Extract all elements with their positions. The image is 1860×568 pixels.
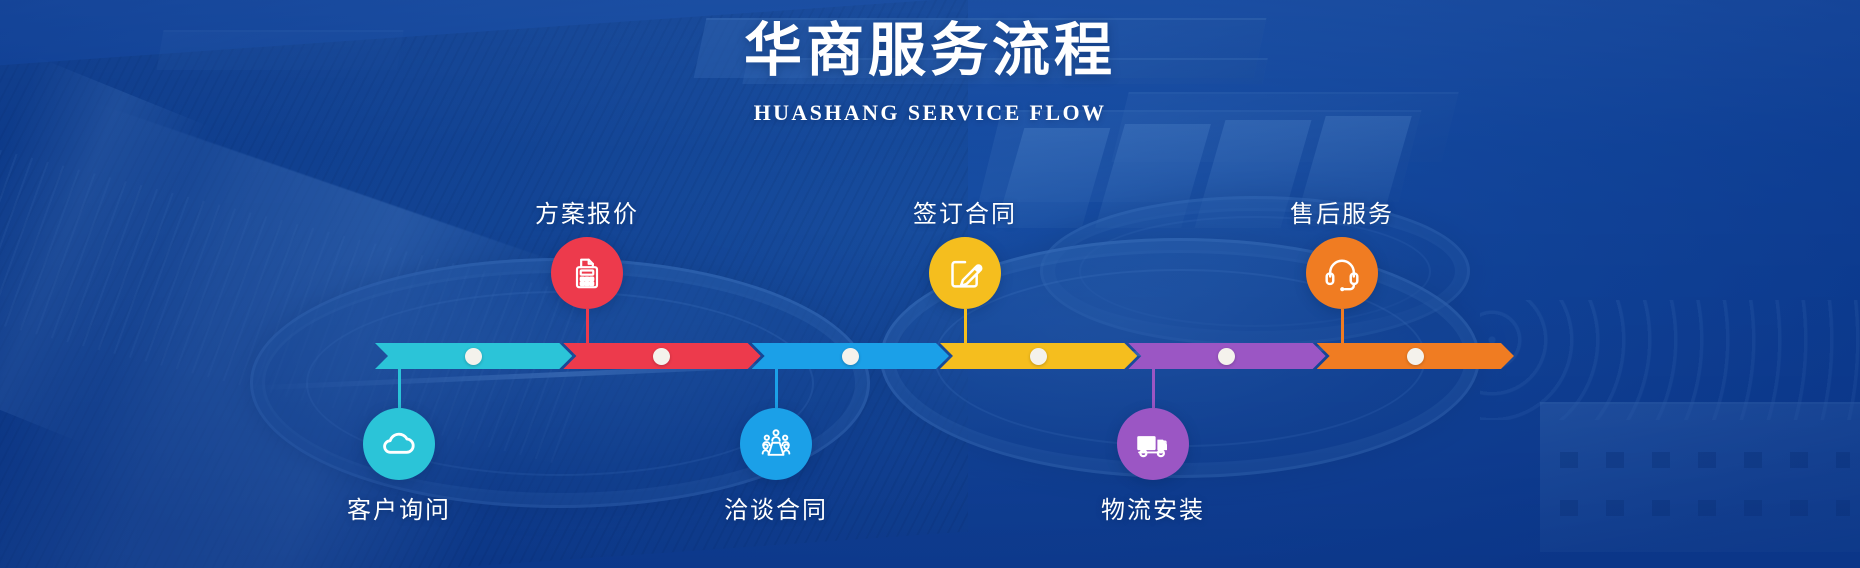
flow-step-stem	[964, 309, 967, 361]
flow-step-icon-bubble[interactable]	[1306, 237, 1378, 309]
flow-step-label: 售后服务	[1232, 194, 1452, 229]
headset-support-icon	[1321, 252, 1363, 294]
flow-segment-dot	[1030, 348, 1047, 365]
flow-step-3[interactable]: 洽谈合同	[666, 408, 886, 525]
flow-step-icon-bubble[interactable]	[1117, 408, 1189, 480]
flow-arrow-segment-plan-quotation[interactable]	[563, 343, 760, 369]
flow-step-icon-bubble[interactable]	[929, 237, 1001, 309]
flow-segment-dot	[1407, 348, 1424, 365]
page-subtitle: HUASHANG SERVICE FLOW	[0, 100, 1860, 126]
flow-step-icon-bubble[interactable]	[551, 237, 623, 309]
delivery-truck-icon	[1132, 423, 1174, 465]
flow-arrow-segment-logistics-install[interactable]	[1128, 343, 1325, 369]
flow-step-label: 客户询问	[289, 490, 509, 525]
flow-arrow-segment-after-sales[interactable]	[1317, 343, 1514, 369]
service-flow-diagram: 客户询问方案报价 洽谈合同签订合同	[0, 0, 1860, 568]
flow-step-label: 物流安装	[1043, 490, 1263, 525]
flow-step-icon-bubble[interactable]	[740, 408, 812, 480]
flow-step-1[interactable]: 客户询问	[289, 408, 509, 525]
flow-step-stem	[1341, 309, 1344, 361]
flow-step-stem	[775, 356, 778, 408]
calculator-invoice-icon	[567, 253, 607, 293]
flow-segment-dot	[465, 348, 482, 365]
flow-arrow-segment-contract-negotiation[interactable]	[752, 343, 949, 369]
flow-step-6[interactable]: 售后服务	[1232, 194, 1452, 309]
flow-step-icon-bubble[interactable]	[363, 408, 435, 480]
flow-arrow-segment-sign-contract[interactable]	[940, 343, 1137, 369]
flow-step-label: 签订合同	[855, 194, 1075, 229]
flow-step-label: 洽谈合同	[666, 490, 886, 525]
flow-arrow-segment-customer-inquiry[interactable]	[375, 343, 572, 369]
cloud-icon	[379, 424, 419, 464]
flow-segment-dot	[653, 348, 670, 365]
page-title: 华商服务流程	[0, 18, 1860, 85]
pen-signature-icon	[945, 253, 985, 293]
flow-step-stem	[1152, 356, 1155, 408]
flow-arrow-bar	[375, 343, 1505, 369]
flow-segment-dot	[1218, 348, 1235, 365]
meeting-table-icon	[756, 424, 796, 464]
flow-step-4[interactable]: 签订合同	[855, 194, 1075, 309]
flow-step-2[interactable]: 方案报价	[477, 194, 697, 309]
flow-step-5[interactable]: 物流安装	[1043, 408, 1263, 525]
flow-step-stem	[398, 356, 401, 408]
flow-step-label: 方案报价	[477, 194, 697, 229]
flow-step-stem	[586, 309, 589, 361]
flow-segment-dot	[842, 348, 859, 365]
service-flow-banner: 华商服务流程 HUASHANG SERVICE FLOW 客户询问方案报价	[0, 0, 1860, 568]
